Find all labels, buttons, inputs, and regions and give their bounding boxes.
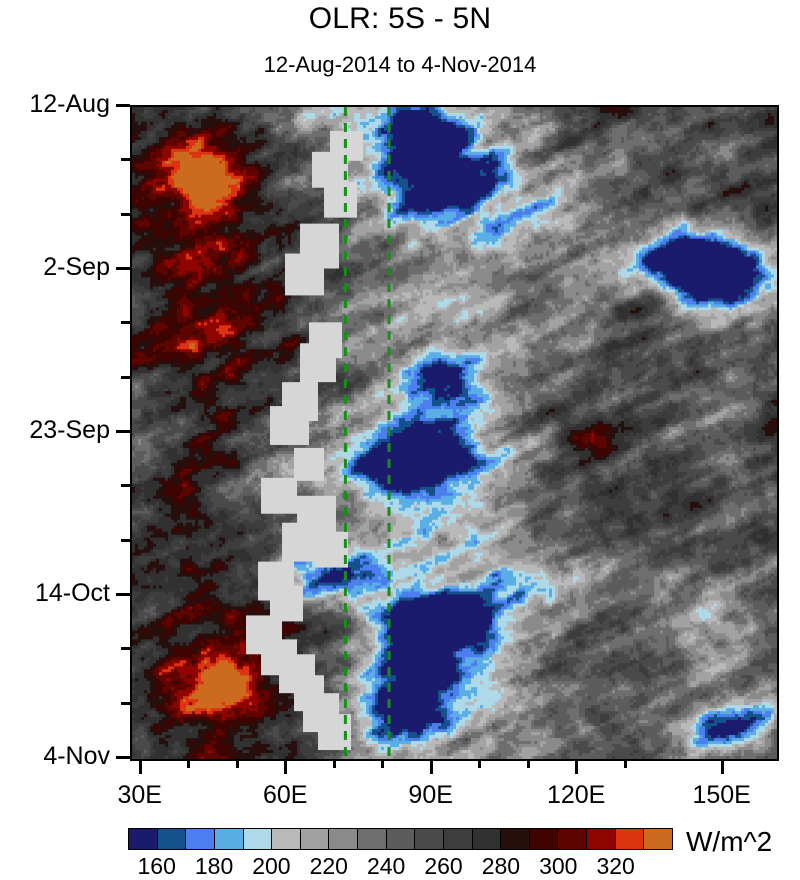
colorbar-swatch bbox=[415, 829, 444, 849]
x-major-tick bbox=[721, 759, 724, 774]
y-major-tick bbox=[116, 267, 130, 270]
x-major-tick bbox=[575, 759, 578, 774]
colorbar-units-label: W/m^2 bbox=[686, 826, 772, 858]
x-axis-label: 90E bbox=[379, 781, 483, 810]
colorbar-swatch bbox=[644, 829, 672, 849]
colorbar-swatch bbox=[358, 829, 387, 849]
y-minor-tick bbox=[121, 213, 130, 216]
hovmoller-canvas bbox=[132, 107, 777, 759]
y-axis-label: 12-Aug bbox=[29, 90, 110, 119]
y-major-tick bbox=[116, 430, 130, 433]
colorbar-swatch bbox=[444, 829, 473, 849]
y-axis-label: 14-Oct bbox=[35, 579, 110, 608]
colorbar-swatch bbox=[272, 829, 301, 849]
x-major-tick bbox=[139, 759, 142, 774]
hovmoller-plot-area bbox=[130, 105, 779, 761]
colorbar-swatch bbox=[387, 829, 416, 849]
x-minor-tick bbox=[624, 759, 627, 768]
colorbar-swatch bbox=[329, 829, 358, 849]
x-minor-tick bbox=[236, 759, 239, 768]
y-major-tick bbox=[116, 756, 130, 759]
x-minor-tick bbox=[333, 759, 336, 768]
y-minor-tick bbox=[121, 376, 130, 379]
y-minor-tick bbox=[121, 539, 130, 542]
x-axis-label: 30E bbox=[88, 781, 192, 810]
x-axis-label: 120E bbox=[524, 781, 628, 810]
colorbar-swatch bbox=[530, 829, 559, 849]
x-axis-label: 60E bbox=[233, 781, 337, 810]
x-major-tick bbox=[284, 759, 287, 774]
colorbar-swatch bbox=[501, 829, 530, 849]
colorbar-swatch bbox=[215, 829, 244, 849]
y-major-tick bbox=[116, 593, 130, 596]
x-minor-tick bbox=[381, 759, 384, 768]
colorbar-swatch bbox=[186, 829, 215, 849]
colorbar-swatch bbox=[244, 829, 273, 849]
colorbar-swatch bbox=[473, 829, 502, 849]
y-axis-label: 4-Nov bbox=[43, 742, 110, 771]
y-minor-tick bbox=[121, 702, 130, 705]
y-minor-tick bbox=[121, 484, 130, 487]
x-axis-label: 150E bbox=[670, 781, 774, 810]
colorbar-swatch bbox=[616, 829, 645, 849]
y-major-tick bbox=[116, 104, 130, 107]
x-minor-tick bbox=[527, 759, 530, 768]
colorbar-swatch bbox=[129, 829, 158, 849]
y-minor-tick bbox=[121, 647, 130, 650]
colorbar-swatch bbox=[158, 829, 187, 849]
colorbar-swatch bbox=[558, 829, 587, 849]
x-minor-tick bbox=[187, 759, 190, 768]
x-major-tick bbox=[430, 759, 433, 774]
y-axis-label: 2-Sep bbox=[43, 253, 110, 282]
y-axis-label: 23-Sep bbox=[29, 416, 110, 445]
x-minor-tick bbox=[478, 759, 481, 768]
colorbar bbox=[128, 828, 673, 850]
colorbar-tick-label: 320 bbox=[576, 853, 656, 880]
olr-hovmoller-figure: OLR: 5S - 5N 12-Aug-2014 to 4-Nov-2014 1… bbox=[0, 0, 800, 869]
chart-subtitle: 12-Aug-2014 to 4-Nov-2014 bbox=[0, 52, 800, 78]
page-title: OLR: 5S - 5N bbox=[0, 2, 800, 36]
y-minor-tick bbox=[121, 321, 130, 324]
colorbar-swatch bbox=[587, 829, 616, 849]
colorbar-swatch bbox=[301, 829, 330, 849]
y-minor-tick bbox=[121, 158, 130, 161]
